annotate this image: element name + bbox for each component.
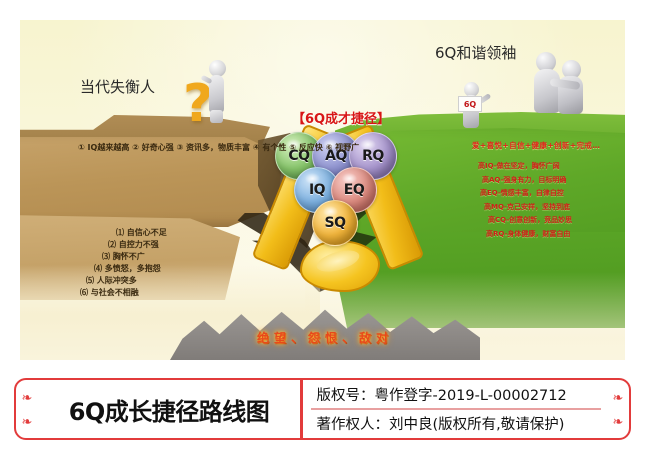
ball-rq-label: RQ (362, 148, 384, 164)
swirl-icon: ❧ (22, 391, 33, 404)
six-q-sign: 6Q (458, 96, 482, 112)
swirl-icon: ❧ (613, 415, 624, 428)
ball-sq[interactable]: SQ (312, 200, 358, 246)
figure-body (534, 69, 560, 113)
left-side-title: 当代失衡人 (80, 76, 155, 97)
list-item: ⑶ 胸怀不广 (80, 251, 167, 263)
ornament-right: ❧ ❧ (607, 380, 629, 438)
ornament-left: ❧ ❧ (16, 380, 38, 438)
list-item: ⑥ 视野广 (326, 143, 360, 152)
left-upper-list: ① IQ越来越高 ② 好奇心强 ③ 资讯多，物质丰富 ④ 有个性 ⑤ 反应快 ⑥… (78, 142, 359, 154)
right-side-title: 6Q和谐领袖 (435, 42, 516, 63)
figure-thinking-person (200, 60, 234, 122)
copyright-owner: 著作权人：刘中良(版权所有,敬请保护) (303, 410, 608, 438)
list-item: ⑤ 反应快 (289, 143, 323, 152)
center-title: 【6Q成才捷径】 (266, 108, 416, 127)
green-cliff-header: 爱+喜悦+自信+健康+创新+完戒… (472, 140, 600, 151)
swirl-icon: ❧ (613, 391, 624, 404)
list-item: ⑹ 与社会不相融 (80, 287, 167, 299)
list-item: ⑷ 多愤怒，多抱怨 (80, 263, 167, 275)
ball-iq-label: IQ (309, 182, 325, 198)
list-item: 高RQ-身体健康，财富自由 (478, 228, 572, 242)
list-item: ④ 有个性 (253, 143, 287, 152)
green-cliff-list: 高IQ-做在坚定，胸怀广阔 高AQ-强身有力，目标明确 高EQ-情感丰富，自律自… (478, 160, 572, 241)
list-item: ③ 资讯多，物质丰富 (177, 143, 251, 152)
poster-root: CQ AQ RQ IQ EQ SQ 【6Q成才捷径】 当代失衡人 6Q和谐领袖 … (0, 0, 645, 470)
ball-sq-label: SQ (325, 215, 346, 231)
illustration-panel: CQ AQ RQ IQ EQ SQ 【6Q成才捷径】 当代失衡人 6Q和谐领袖 … (20, 20, 625, 360)
list-item: ⑴ 自信心不足 (80, 227, 167, 239)
swirl-icon: ❧ (22, 415, 33, 428)
list-item: ⑵ 自控力不强 (80, 239, 167, 251)
list-item: ① IQ越来越高 (78, 143, 129, 152)
list-item: ② 好奇心强 (132, 143, 174, 152)
v-knot (300, 240, 380, 292)
copyright-number: 版权号：粤作登字-2019-L-00002712 (303, 380, 608, 408)
list-item: 高MQ-克己安祥，坚持到底 (478, 201, 572, 215)
chasm-rocks: 绝望、怨恨、敌对 (170, 290, 480, 360)
copyright-block: 版权号：粤作登字-2019-L-00002712 著作权人：刘中良(版权所有,敬… (303, 380, 608, 438)
list-item: 高EQ-情感丰富，自律自控 (478, 187, 572, 201)
list-item: 高IQ-做在坚定，胸怀广阔 (478, 160, 572, 174)
list-item: 高AQ-强身有力，目标明确 (478, 174, 572, 188)
figure-leg (210, 110, 223, 123)
list-item: ⑸ 人际冲突多 (80, 275, 167, 287)
list-item: 高CQ-创意创新，竞品妙思 (478, 214, 572, 228)
caption-bar: ❧ ❧ 6Q成长捷径路线图 版权号：粤作登字-2019-L-00002712 著… (14, 378, 631, 440)
left-lower-list: ⑴ 自信心不足 ⑵ 自控力不强 ⑶ 胸怀不广 ⑷ 多愤怒，多抱怨 ⑸ 人际冲突多… (80, 227, 167, 299)
ball-eq-label: EQ (344, 182, 364, 198)
chasm-warning-text: 绝望、怨恨、敌对 (170, 329, 480, 346)
figure-embracing-pair (530, 50, 594, 116)
poster-title: 6Q成长捷径路线图 (38, 380, 300, 438)
